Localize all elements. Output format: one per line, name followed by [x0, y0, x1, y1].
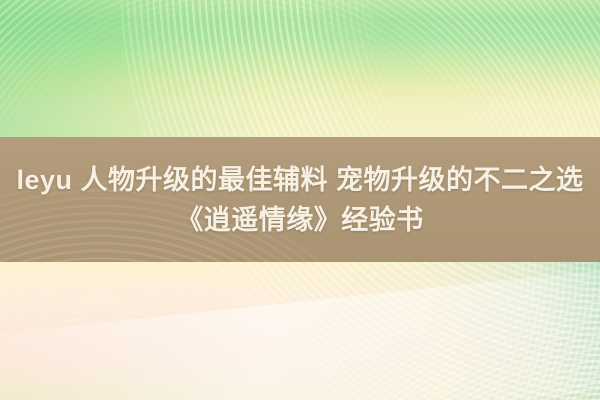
background-bottom-horizontal-tint: [0, 262, 600, 400]
headline-line-1: leyu 人物升级的最佳辅料 宠物升级的不二之选: [16, 161, 583, 199]
headline-block: leyu 人物升级的最佳辅料 宠物升级的不二之选 《逍遥情缘》经验书: [0, 137, 600, 262]
promo-banner: leyu 人物升级的最佳辅料 宠物升级的不二之选 《逍遥情缘》经验书: [0, 0, 600, 400]
headline-line-2: 《逍遥情缘》经验书: [176, 201, 424, 239]
background-top-horizontal-tint: [0, 0, 600, 137]
